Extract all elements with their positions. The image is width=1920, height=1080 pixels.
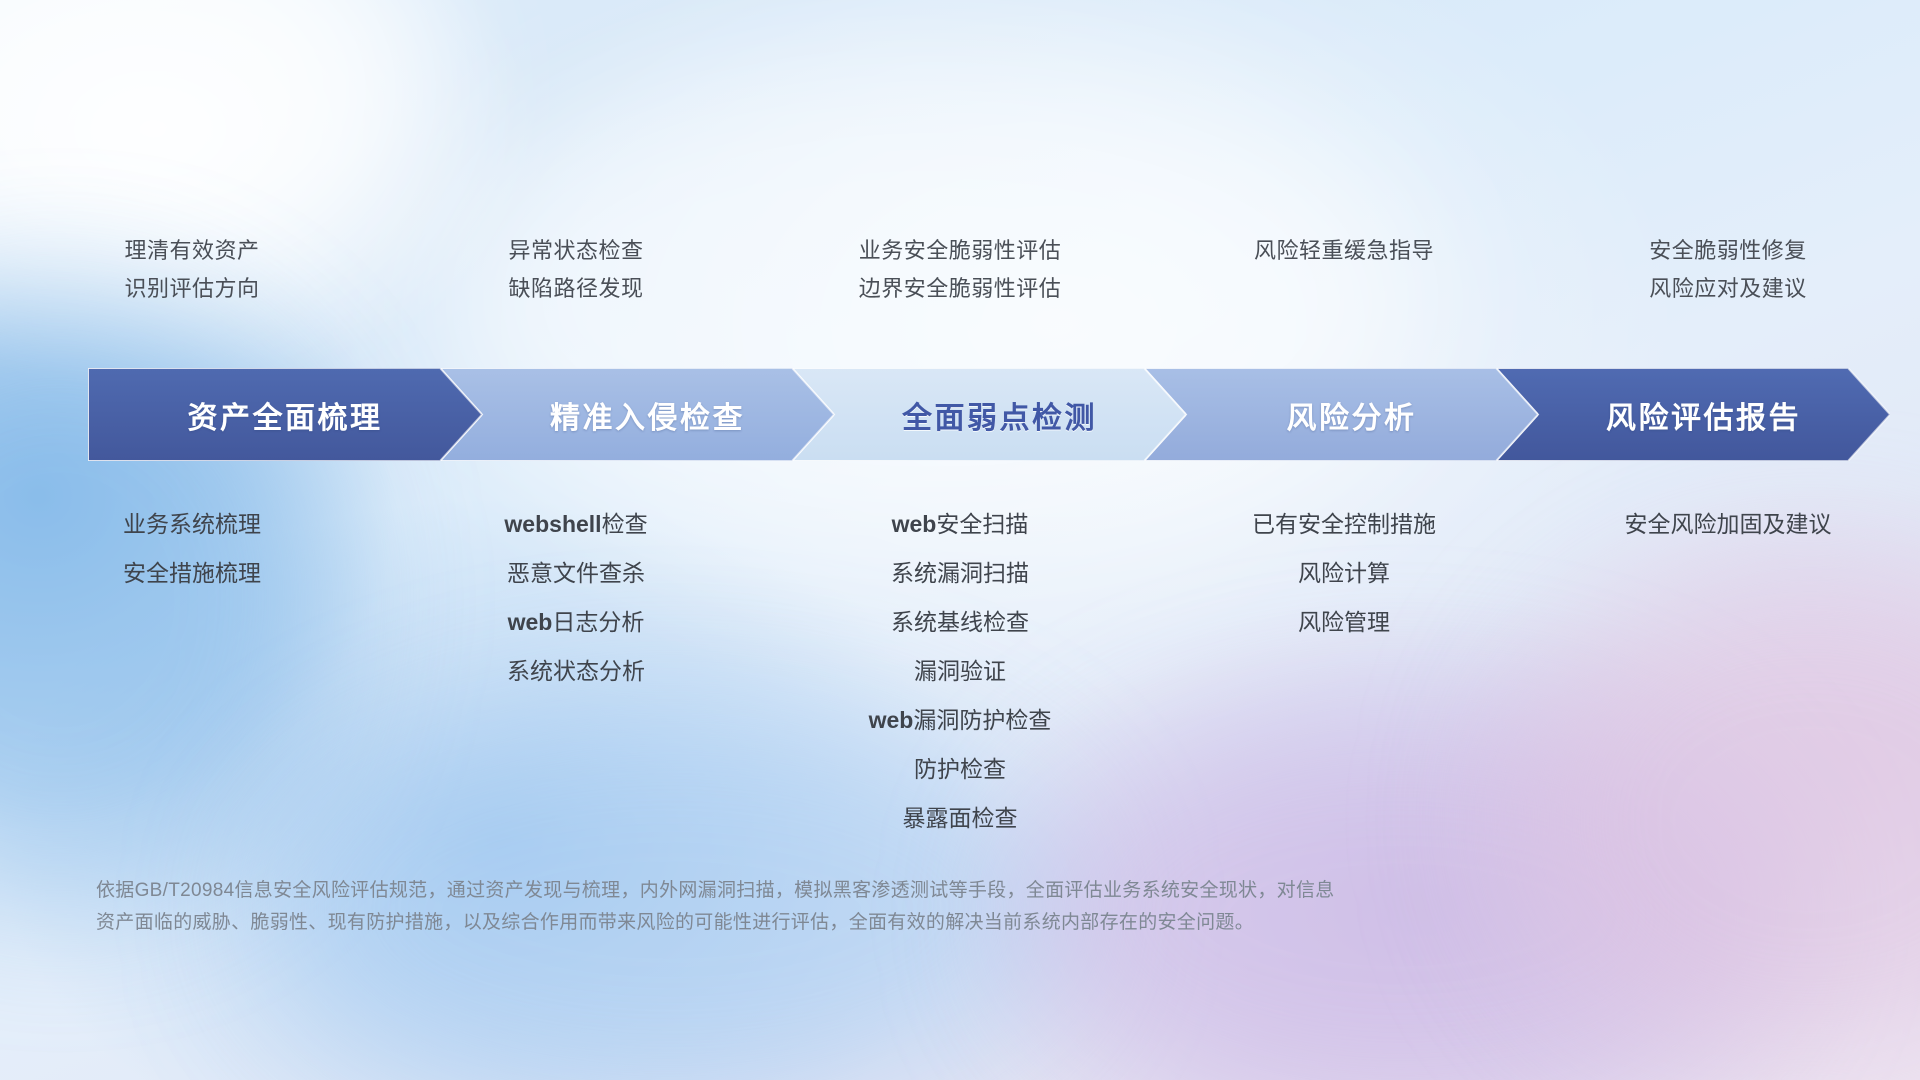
process-step-label: 风险评估报告: [1585, 393, 1801, 437]
top-caption-item: 安全脆弱性修复: [1546, 232, 1910, 270]
top-captions-row: 理清有效资产识别评估方向异常状态检查缺陷路径发现业务安全脆弱性评估边界安全脆弱性…: [0, 232, 1920, 308]
top-caption-item: 异常状态检查: [394, 232, 758, 270]
bottom-caption-item: 系统漏洞扫描: [778, 549, 1142, 598]
bottom-caption-item: 恶意文件查杀: [394, 549, 758, 598]
top-caption-col-4: 风险轻重缓急指导: [1152, 232, 1536, 308]
top-caption-item: 风险应对及建议: [1546, 270, 1910, 308]
process-step-5[interactable]: 风险评估报告: [1496, 368, 1890, 461]
bottom-caption-item: webshell检查: [394, 500, 758, 549]
bottom-captions-row: 业务系统梳理安全措施梳理webshell检查恶意文件查杀web日志分析系统状态分…: [0, 500, 1920, 843]
bottom-caption-item: 风险管理: [1162, 598, 1526, 647]
bottom-caption-item: 已有安全控制措施: [1162, 500, 1526, 549]
process-step-label: 全面弱点检测: [881, 393, 1097, 437]
bottom-caption-item: 暴露面检查: [778, 794, 1142, 843]
bottom-caption-col-5: 安全风险加固及建议: [1536, 500, 1920, 843]
top-caption-col-1: 理清有效资产识别评估方向: [0, 232, 384, 308]
footer-line-2: 资产面临的威胁、脆弱性、现有防护措施，以及综合作用而带来风险的可能性进行评估，全…: [96, 907, 1736, 939]
bottom-caption-item: web漏洞防护检查: [778, 696, 1142, 745]
bottom-caption-item: 安全措施梳理: [10, 549, 374, 598]
bottom-caption-col-4: 已有安全控制措施风险计算风险管理: [1152, 500, 1536, 843]
bottom-caption-col-1: 业务系统梳理安全措施梳理: [0, 500, 384, 843]
bottom-caption-item: 业务系统梳理: [10, 500, 374, 549]
process-step-label: 风险分析: [1266, 393, 1417, 437]
bottom-caption-item: 防护检查: [778, 745, 1142, 794]
bottom-caption-item: 系统基线检查: [778, 598, 1142, 647]
process-step-label: 精准入侵检查: [529, 393, 745, 437]
bottom-caption-item: 风险计算: [1162, 549, 1526, 598]
process-arrow-band: 资产全面梳理精准入侵检查全面弱点检测风险分析风险评估报告: [88, 368, 1848, 461]
top-caption-col-3: 业务安全脆弱性评估边界安全脆弱性评估: [768, 232, 1152, 308]
top-caption-item: 业务安全脆弱性评估: [778, 232, 1142, 270]
process-step-1[interactable]: 资产全面梳理: [88, 368, 482, 461]
process-step-4[interactable]: 风险分析: [1144, 368, 1538, 461]
bottom-caption-col-2: webshell检查恶意文件查杀web日志分析系统状态分析: [384, 500, 768, 843]
footer-line-1: 依据GB/T20984信息安全风险评估规范，通过资产发现与梳理，内外网漏洞扫描，…: [96, 875, 1736, 907]
bottom-caption-item: 系统状态分析: [394, 647, 758, 696]
top-caption-item: 识别评估方向: [10, 270, 374, 308]
top-caption-col-2: 异常状态检查缺陷路径发现: [384, 232, 768, 308]
diagram-canvas: 理清有效资产识别评估方向异常状态检查缺陷路径发现业务安全脆弱性评估边界安全脆弱性…: [0, 0, 1920, 1080]
bottom-caption-col-3: web安全扫描系统漏洞扫描系统基线检查漏洞验证web漏洞防护检查防护检查暴露面检…: [768, 500, 1152, 843]
process-step-2[interactable]: 精准入侵检查: [440, 368, 834, 461]
top-caption-col-5: 安全脆弱性修复风险应对及建议: [1536, 232, 1920, 308]
bottom-caption-item: web安全扫描: [778, 500, 1142, 549]
bottom-caption-item: 安全风险加固及建议: [1546, 500, 1910, 549]
bottom-caption-item: 漏洞验证: [778, 647, 1142, 696]
bottom-caption-item: web日志分析: [394, 598, 758, 647]
footer-description: 依据GB/T20984信息安全风险评估规范，通过资产发现与梳理，内外网漏洞扫描，…: [96, 875, 1736, 939]
process-step-3[interactable]: 全面弱点检测: [792, 368, 1186, 461]
top-caption-item: 边界安全脆弱性评估: [778, 270, 1142, 308]
top-caption-item: 理清有效资产: [10, 232, 374, 270]
top-caption-item: 缺陷路径发现: [394, 270, 758, 308]
top-caption-item: 风险轻重缓急指导: [1162, 232, 1526, 270]
process-step-label: 资产全面梳理: [188, 393, 383, 437]
